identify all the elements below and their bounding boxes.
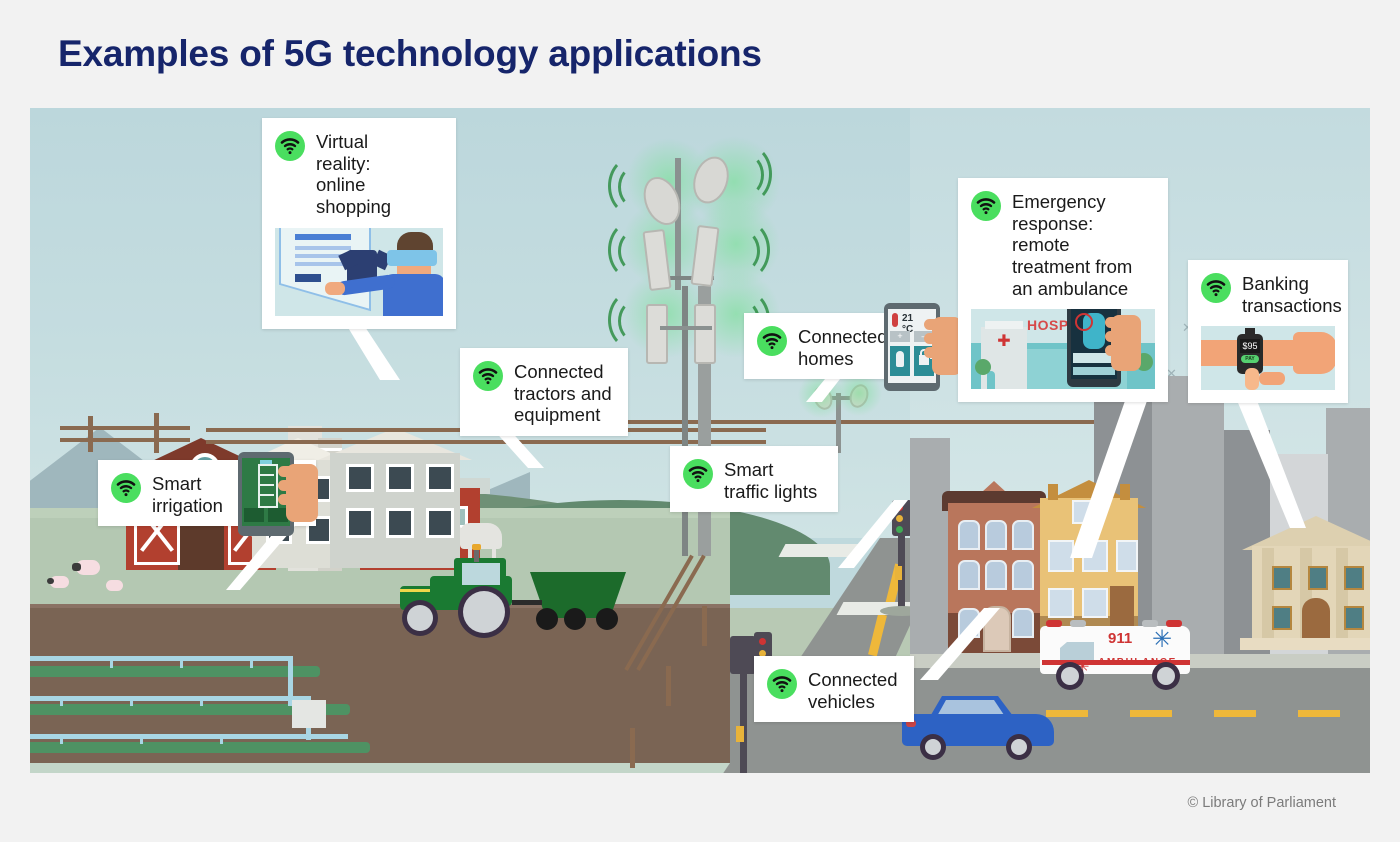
wifi-icon <box>757 326 787 356</box>
callout-virtual-reality[interactable]: Virtual reality: online shopping <box>262 118 456 329</box>
tractor-front-wheel <box>402 600 438 636</box>
irrigation-control-box <box>292 700 326 728</box>
yellow-window <box>1116 540 1138 572</box>
tractor-exhaust <box>474 548 479 562</box>
finger <box>278 494 300 505</box>
callout-label: Emergency response: remote treatment fro… <box>1012 191 1132 299</box>
hospital-illustration: ✚ HOSPITAL <box>971 309 1155 389</box>
sheep <box>106 580 123 591</box>
lane-dash <box>1214 710 1256 717</box>
yellow-window <box>1048 588 1074 618</box>
cart-hitch <box>512 600 542 605</box>
star-of-life-icon: ✳ <box>1152 628 1176 652</box>
callout-connected-tractors[interactable]: Connected tractors and equipment <box>460 348 628 436</box>
fence-rail <box>60 426 190 430</box>
tractor-beacon <box>472 544 481 550</box>
callout-banking-transactions[interactable]: Banking transactions $95 PAY <box>1188 260 1348 403</box>
ambulance-wheel <box>1056 662 1084 690</box>
callout-label: Banking transactions <box>1242 273 1342 316</box>
cart-wheel <box>596 608 618 630</box>
house-window <box>346 464 374 492</box>
irrigation-riser <box>60 696 63 706</box>
callout-label: Virtual reality: online shopping <box>316 131 391 218</box>
chimney <box>1120 484 1130 500</box>
finger <box>278 466 300 477</box>
brick-window <box>958 560 980 590</box>
tower-top-spire <box>675 158 681 290</box>
chimney <box>1048 484 1058 500</box>
brick-window <box>1012 608 1034 638</box>
office-tower <box>1152 376 1224 654</box>
yellow-house-door <box>1110 586 1134 628</box>
irrigation-diagram-line <box>258 494 274 496</box>
traffic-light-green <box>896 526 903 533</box>
ambulance-lightbar <box>1046 620 1062 627</box>
ambulance-wheel <box>1152 662 1180 690</box>
wifi-icon <box>971 191 1001 221</box>
irrigation-riser <box>180 656 183 668</box>
brick-window <box>985 560 1007 590</box>
irrigation-pipe <box>30 734 320 739</box>
brick-window <box>1012 520 1034 550</box>
lane-dash <box>1298 710 1340 717</box>
fence-post <box>666 666 671 706</box>
fence-post <box>630 728 635 768</box>
bank-window <box>1272 566 1292 590</box>
signal-wave <box>618 166 652 208</box>
bank-window <box>1344 566 1364 590</box>
bank-window <box>1272 606 1292 630</box>
brick-window <box>958 520 980 550</box>
finger <box>924 347 946 358</box>
watch-amount: $95 <box>1240 339 1260 353</box>
callout-label: Smart irrigation <box>152 473 223 516</box>
callout-label: Connected tractors and equipment <box>514 361 612 426</box>
irrigation-diagram-line <box>258 474 274 476</box>
brick-window <box>1012 560 1034 590</box>
traffic-light-red <box>759 638 766 645</box>
banking-illustration: $95 PAY <box>1201 326 1335 390</box>
watch-pay-button: PAY <box>1241 355 1259 363</box>
irrigation-diagram-head <box>260 460 272 464</box>
irrigation-field-tile <box>268 508 288 522</box>
house-window <box>426 464 454 492</box>
signal-wave <box>618 300 652 342</box>
bank-window <box>1308 566 1328 590</box>
house-window <box>386 508 414 538</box>
ambulance-911-text: 911 <box>1108 630 1132 647</box>
bank-window <box>1344 606 1364 630</box>
tractor-rear-wheel <box>458 586 510 638</box>
irrigation-riser <box>220 734 223 744</box>
callout-smart-irrigation[interactable]: Smart irrigation <box>98 460 316 526</box>
crop-row <box>30 742 370 753</box>
house-window <box>346 508 374 538</box>
traffic-light-head <box>730 636 756 674</box>
cart-wheel <box>564 608 586 630</box>
fence-post <box>702 606 707 646</box>
finger <box>924 319 946 330</box>
irrigation-pipe <box>30 696 310 701</box>
wifi-icon <box>683 459 713 489</box>
yellow-window <box>1082 588 1108 618</box>
brick-window <box>985 520 1007 550</box>
irrigation-riser <box>200 696 203 706</box>
cart-wheel <box>536 608 558 630</box>
irrigation-pipe <box>288 734 348 739</box>
tower-crossbar <box>660 326 712 330</box>
finger <box>924 333 946 344</box>
page-title: Examples of 5G technology applications <box>58 33 762 75</box>
lightbulb-icon <box>896 351 904 367</box>
car-wheel <box>1006 734 1032 760</box>
thermostat-plus-button[interactable]: + <box>890 331 910 342</box>
yellow-window <box>1048 540 1074 572</box>
callout-label: Connected vehicles <box>808 669 897 712</box>
irrigation-riser <box>110 656 113 668</box>
traffic-light-amber <box>896 515 903 522</box>
sheep-head <box>47 578 54 584</box>
lane-dash <box>1046 710 1088 717</box>
sheep-head <box>72 563 81 571</box>
fence-rail <box>60 438 190 442</box>
copyright-credit: © Library of Parliament <box>1188 795 1337 811</box>
fence-rail-city <box>590 420 1130 424</box>
tractor-windshield <box>462 563 500 585</box>
callout-connected-homes[interactable]: Connected homes 21 °C + – <box>744 313 910 379</box>
car-wheel <box>920 734 946 760</box>
office-tower <box>910 438 950 654</box>
irrigation-diagram <box>258 464 278 508</box>
sector-antenna <box>694 304 716 364</box>
house-window <box>426 508 454 538</box>
irrigation-riser <box>140 734 143 744</box>
house-window <box>386 464 414 492</box>
signal-wave <box>618 230 652 272</box>
signal-wave <box>730 154 764 196</box>
traffic-light-plate <box>736 726 744 742</box>
irrigation-field-tile <box>244 508 264 522</box>
irrigation-pipe <box>288 656 293 706</box>
bank-base <box>1240 638 1370 650</box>
wifi-icon <box>473 361 503 391</box>
callout-label: Connected homes <box>798 326 887 369</box>
callout-connected-vehicles[interactable]: Connected vehicles <box>754 656 914 722</box>
wifi-icon <box>767 669 797 699</box>
irrigation-diagram-line <box>258 484 274 486</box>
wifi-icon <box>111 473 141 503</box>
wifi-icon <box>275 131 305 161</box>
crop-row <box>30 666 320 677</box>
callout-smart-traffic-lights[interactable]: Smart traffic lights <box>670 446 838 512</box>
finger <box>278 480 300 491</box>
irrigation-riser <box>130 696 133 706</box>
ambulance-lightbar <box>1070 620 1086 627</box>
thermometer-icon <box>892 313 898 327</box>
fence-post <box>154 413 159 453</box>
infographic-scene: ✕ ✕ ✕ ✕ ✕ <box>30 108 1370 773</box>
lane-dash <box>1130 710 1172 717</box>
callout-emergency-response[interactable]: Emergency response: remote treatment fro… <box>958 178 1168 402</box>
signal-wave <box>726 230 760 272</box>
irrigation-riser <box>60 734 63 744</box>
wifi-icon <box>1201 273 1231 303</box>
irrigation-riser <box>250 656 253 668</box>
fence-post <box>88 416 93 452</box>
callout-label: Smart traffic lights <box>724 459 817 502</box>
vr-illustration <box>275 228 443 316</box>
traffic-light-plate <box>895 566 902 580</box>
